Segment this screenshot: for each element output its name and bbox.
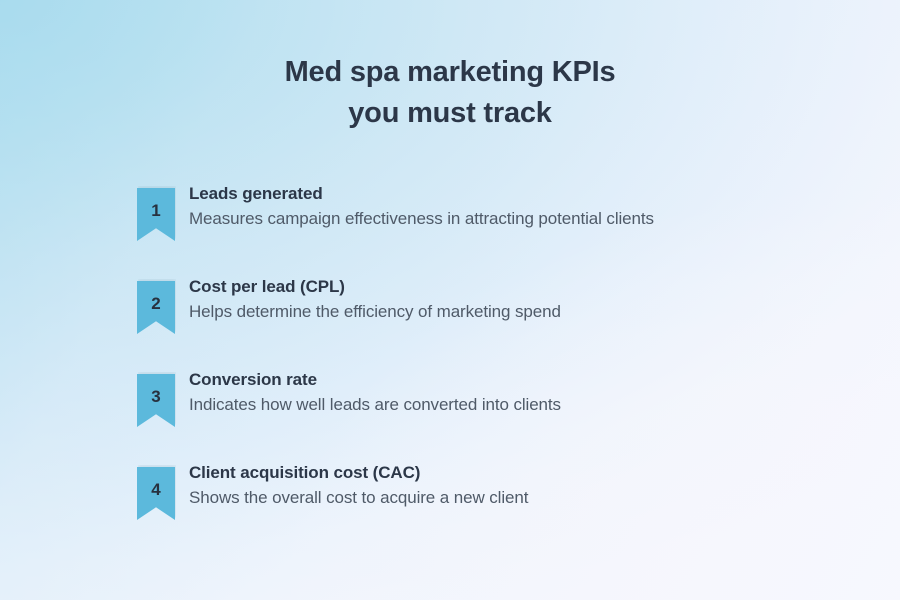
bookmark-badge-wrapper: 1 bbox=[137, 182, 189, 242]
badge-number: 1 bbox=[137, 188, 175, 219]
badge-number: 2 bbox=[137, 281, 175, 312]
kpi-heading: Conversion rate bbox=[189, 368, 561, 391]
kpi-heading: Cost per lead (CPL) bbox=[189, 275, 561, 298]
kpi-description: Measures campaign effectiveness in attra… bbox=[189, 207, 654, 231]
kpi-description: Helps determine the efficiency of market… bbox=[189, 300, 561, 324]
kpi-text-block: Cost per lead (CPL) Helps determine the … bbox=[189, 275, 561, 324]
bookmark-badge-wrapper: 4 bbox=[137, 461, 189, 521]
page-title-line-2: you must track bbox=[0, 93, 900, 134]
bookmark-icon: 4 bbox=[137, 467, 175, 520]
list-item: 3 Conversion rate Indicates how well lea… bbox=[137, 368, 837, 428]
list-item: 4 Client acquisition cost (CAC) Shows th… bbox=[137, 461, 837, 521]
infographic-canvas: Med spa marketing KPIs you must track 1 … bbox=[0, 0, 900, 600]
badge-number: 4 bbox=[137, 467, 175, 498]
page-title: Med spa marketing KPIs you must track bbox=[0, 52, 900, 134]
list-item: 2 Cost per lead (CPL) Helps determine th… bbox=[137, 275, 837, 335]
bookmark-icon: 1 bbox=[137, 188, 175, 241]
bookmark-icon: 3 bbox=[137, 374, 175, 427]
bookmark-badge-wrapper: 2 bbox=[137, 275, 189, 335]
kpi-text-block: Conversion rate Indicates how well leads… bbox=[189, 368, 561, 417]
kpi-description: Shows the overall cost to acquire a new … bbox=[189, 486, 528, 510]
bookmark-icon: 2 bbox=[137, 281, 175, 334]
kpi-text-block: Leads generated Measures campaign effect… bbox=[189, 182, 654, 231]
badge-number: 3 bbox=[137, 374, 175, 405]
list-item: 1 Leads generated Measures campaign effe… bbox=[137, 182, 837, 242]
kpi-text-block: Client acquisition cost (CAC) Shows the … bbox=[189, 461, 528, 510]
kpi-description: Indicates how well leads are converted i… bbox=[189, 393, 561, 417]
bookmark-badge-wrapper: 3 bbox=[137, 368, 189, 428]
page-title-line-1: Med spa marketing KPIs bbox=[0, 52, 900, 93]
kpi-heading: Leads generated bbox=[189, 182, 654, 205]
kpi-list: 1 Leads generated Measures campaign effe… bbox=[137, 182, 837, 521]
kpi-heading: Client acquisition cost (CAC) bbox=[189, 461, 528, 484]
